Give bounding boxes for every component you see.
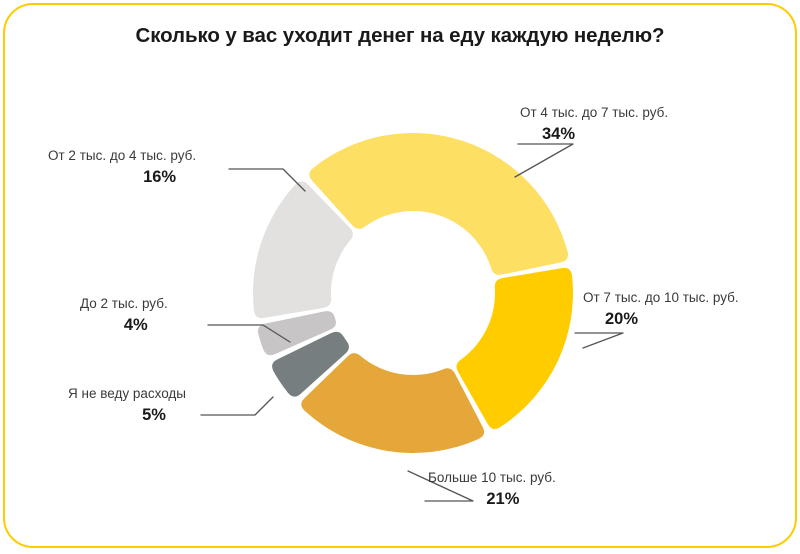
chart-card: Сколько у вас уходит денег на еду каждую… [3,3,797,548]
slice-percent-text: 34% [520,126,668,143]
slice-label-4-7k: От 4 тыс. до 7 тыс. руб. 34% [520,106,668,142]
donut-chart [5,5,797,548]
leader-line [201,397,273,415]
slice-label-2-4k: От 2 тыс. до 4 тыс. руб. 16% [48,149,196,185]
slice-label-text: Я не веду расходы [68,387,186,401]
donut-slice-group [253,133,573,453]
slice-label-text: До 2 тыс. руб. [80,297,168,311]
slice-label-text: От 4 тыс. до 7 тыс. руб. [520,106,668,120]
slice-label-no-tracking: Я не веду расходы 5% [68,387,186,423]
slice-label-over-10k: Больше 10 тыс. руб. 21% [428,471,556,507]
slice-label-under-2k: До 2 тыс. руб. 4% [80,297,168,333]
slice-percent-text: 4% [80,317,168,334]
slice-percent-text: 5% [68,407,186,424]
slice-percent-text: 20% [583,311,739,328]
slice-percent-text: 21% [428,491,556,508]
leader-line [575,333,623,348]
donut-slice[interactable] [309,133,568,275]
slice-label-7-10k: От 7 тыс. до 10 тыс. руб. 20% [583,291,739,327]
leader-line [515,144,573,177]
slice-label-text: От 2 тыс. до 4 тыс. руб. [48,149,196,163]
slice-percent-text: 16% [48,169,196,186]
slice-label-text: От 7 тыс. до 10 тыс. руб. [583,291,739,305]
slice-label-text: Больше 10 тыс. руб. [428,471,556,485]
donut-slice[interactable] [456,268,573,429]
